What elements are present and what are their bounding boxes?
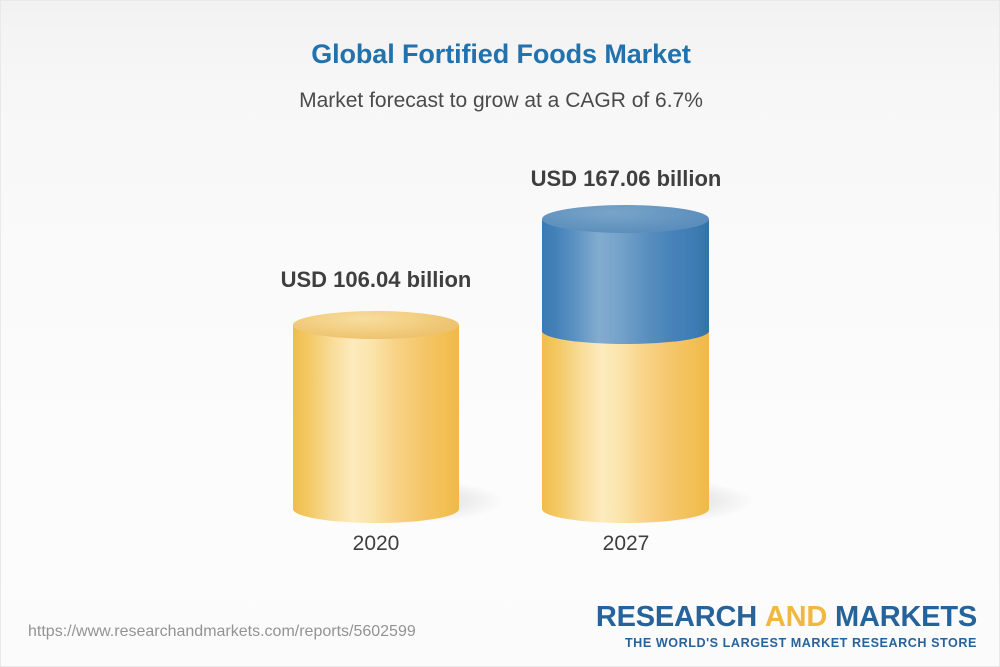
bar-category-label-2027: 2027 [476, 532, 776, 556]
chart-title: Global Fortified Foods Market [1, 39, 1000, 70]
bar-top-cap [293, 311, 459, 339]
bar-value-label-2027: USD 167.06 billion [476, 166, 776, 192]
logo-word-markets: MARKETS [835, 601, 977, 633]
source-url[interactable]: https://www.researchandmarkets.com/repor… [28, 623, 416, 641]
chart-subtitle: Market forecast to grow at a CAGR of 6.7… [1, 89, 1000, 113]
bar-segment-base [542, 328, 709, 509]
logo-word-research: RESEARCH [596, 601, 757, 633]
logo-wordmark: RESEARCH AND MARKETS [596, 603, 977, 632]
bar-value-label-2020: USD 106.04 billion [226, 267, 526, 293]
chart-canvas: Global Fortified Foods Market Market for… [0, 0, 1000, 667]
bar-segment-base [293, 325, 459, 509]
bar-top-cap [542, 205, 709, 233]
research-and-markets-logo[interactable]: RESEARCH AND MARKETS THE WORLD'S LARGEST… [596, 603, 977, 650]
bar-segment-growth [542, 219, 709, 332]
bar-segment-divider [542, 318, 709, 344]
logo-tagline: THE WORLD'S LARGEST MARKET RESEARCH STOR… [596, 636, 977, 650]
logo-word-and: AND [765, 601, 827, 633]
